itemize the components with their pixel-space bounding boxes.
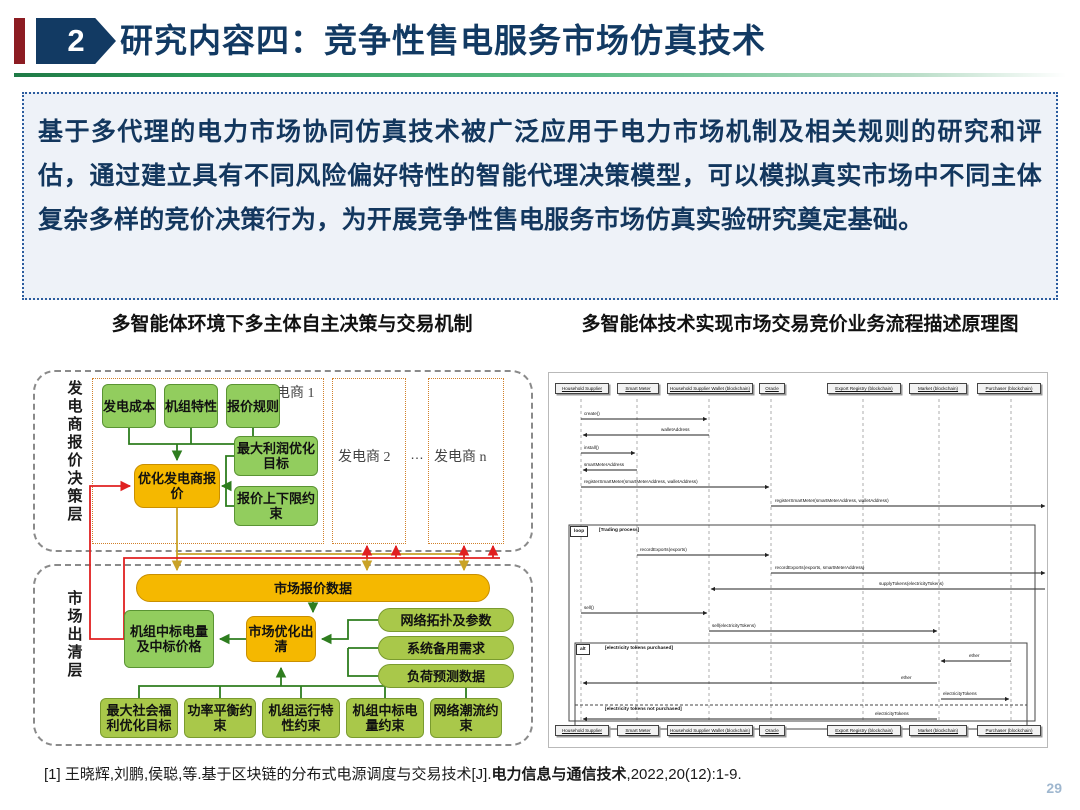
node-max-profit-objective: 最大利润优化目标 — [234, 436, 318, 476]
node-max-social-welfare: 最大社会福利优化目标 — [100, 698, 178, 738]
message-create: create() — [584, 411, 600, 416]
fragment-cond-alt: [electricity tokens purchased] — [605, 646, 673, 651]
node-network-flow-constraint: 网络潮流约束 — [430, 698, 502, 738]
node-load-forecast-data: 负荷预测数据 — [378, 664, 514, 688]
message-register-smart-meter-2: registerSmartMeter(smartMeterAddress, wa… — [775, 498, 889, 503]
node-market-optimization-clearing: 市场优化出清 — [246, 616, 316, 662]
node-awarded-quantity-constraint: 机组中标电量约束 — [346, 698, 424, 738]
summary-text: 基于多代理的电力市场协同仿真技术被广泛应用于电力市场机制及相关规则的研究和评估，… — [38, 110, 1042, 242]
left-figure-multiagent-decision-diagram: 发电商报价决策层 市场出清层 发电商 1 发电商 2 发电商 n … — [30, 368, 535, 748]
fragment-cond-alt-else: [electricity tokens not purchased] — [605, 707, 682, 712]
lifeline-footer-market: Market (blockchain) — [909, 725, 967, 736]
header-underline-rule — [14, 73, 1066, 77]
right-figure-sequence-diagram: Household Supplier Smart Meter Household… — [548, 372, 1048, 748]
node-power-balance-constraint: 功率平衡约束 — [184, 698, 256, 738]
reference-citation: [1] 王晓辉,刘鹏,侯聪,等.基于区块链的分布式电源调度与交易技术[J].电力… — [44, 764, 1024, 786]
message-sell: sell() — [584, 605, 594, 610]
fragment-tag-alt: alt — [576, 644, 590, 655]
message-record-exports-smartmeter: recordExports(exports, smartMeterAddress… — [775, 565, 864, 570]
right-figure-caption: 多智能体技术实现市场交易竞价业务流程描述原理图 — [552, 312, 1048, 337]
lifeline-header-household-supplier-wallet: Household Supplier Wallet (blockchain) — [667, 383, 753, 394]
message-wallet-address: walletAddress — [661, 427, 690, 432]
node-unit-operation-constraint: 机组运行特性约束 — [262, 698, 340, 738]
fragment-cond-loop: [Trading process] — [599, 528, 639, 533]
fragment-tag-loop: loop — [570, 526, 588, 537]
page-number: 29 — [1046, 780, 1062, 796]
lifeline-header-purchaser: Purchaser (blockchain) — [977, 383, 1041, 394]
lifeline-header-smart-meter: Smart Meter — [617, 383, 659, 394]
node-bidding-rules: 报价规则 — [226, 384, 280, 428]
node-bid-limit-constraint: 报价上下限约束 — [234, 486, 318, 526]
header-section-number-badge: 2 — [36, 18, 116, 64]
node-unit-characteristics: 机组特性 — [164, 384, 218, 428]
lifeline-header-oracle: Oracle — [759, 383, 785, 394]
node-market-bid-data: 市场报价数据 — [136, 574, 490, 602]
message-install: install() — [584, 445, 599, 450]
lifeline-footer-export-registry: Export Registry (blockchain) — [827, 725, 901, 736]
lifeline-header-export-registry: Export Registry (blockchain) — [827, 383, 901, 394]
lifeline-footer-smart-meter: Smart Meter — [617, 725, 659, 736]
message-supply-tokens: supplyTokens(electricityTokens) — [879, 581, 944, 586]
message-electricity-tokens-1: electricityTokens — [943, 691, 977, 696]
node-optimize-generator-bid: 优化发电商报价 — [134, 464, 220, 508]
summary-callout-box: 基于多代理的电力市场协同仿真技术被广泛应用于电力市场机制及相关规则的研究和评估，… — [22, 92, 1058, 300]
header-red-accent-bar — [14, 18, 25, 64]
node-system-reserve-demand: 系统备用需求 — [378, 636, 514, 660]
message-electricity-tokens-2: electricityTokens — [875, 711, 909, 716]
message-record-exports: recordExports(exports) — [640, 547, 687, 552]
lifeline-footer-household-supplier: Household Supplier — [555, 725, 609, 736]
slide-header: 2 研究内容四：竞争性售电服务市场仿真技术 — [0, 0, 1080, 80]
message-sell-electricity-tokens: sell(electricityTokens) — [712, 623, 756, 628]
node-generation-cost: 发电成本 — [102, 384, 156, 428]
citation-journal: 电力信息与通信技术 — [492, 766, 627, 783]
left-figure-caption: 多智能体环境下多主体自主决策与交易机制 — [42, 312, 542, 337]
citation-prefix: [1] 王晓辉,刘鹏,侯聪,等.基于区块链的分布式电源调度与交易技术[J]. — [44, 766, 492, 783]
message-register-smart-meter: registerSmartMeter(smartMeterAddress, wa… — [584, 479, 698, 484]
message-smart-meter-address: smartMeterAddress — [584, 462, 624, 467]
lifeline-footer-household-supplier-wallet: Household Supplier Wallet (blockchain) — [667, 725, 753, 736]
lifeline-footer-oracle: Oracle — [759, 725, 785, 736]
node-network-topology: 网络拓扑及参数 — [378, 608, 514, 632]
citation-suffix: ,2022,20(12):1-9. — [627, 766, 742, 783]
message-ether-2: ether — [901, 675, 911, 680]
node-awarded-quantity-price: 机组中标电量及中标价格 — [124, 610, 214, 668]
lifeline-header-household-supplier: Household Supplier — [555, 383, 609, 394]
page-title: 研究内容四：竞争性售电服务市场仿真技术 — [120, 13, 1020, 69]
lifeline-footer-purchaser: Purchaser (blockchain) — [977, 725, 1041, 736]
message-ether-1: ether — [969, 653, 979, 658]
lifeline-header-market: Market (blockchain) — [909, 383, 967, 394]
